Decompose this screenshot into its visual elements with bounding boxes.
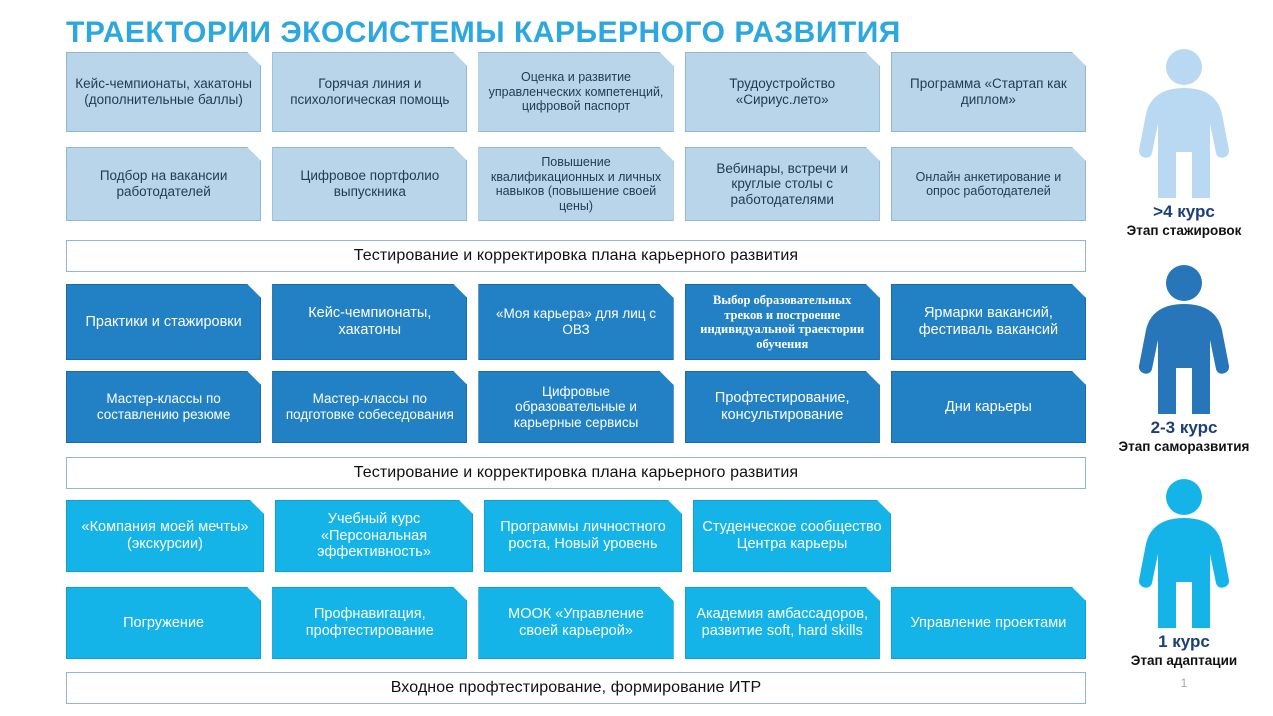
card[interactable]: Дни карьеры — [891, 371, 1086, 443]
card[interactable]: Профтестирование, консультирование — [685, 371, 880, 443]
card[interactable]: Программы личностного роста, Новый урове… — [484, 500, 682, 572]
card[interactable]: Академия амбассадоров, развитие soft, ha… — [685, 587, 880, 659]
card[interactable]: Погружение — [66, 587, 261, 659]
stage-course-label: >4 курс — [1095, 202, 1273, 222]
stage-tier4: >4 курс Этап стажировок — [1095, 48, 1273, 238]
card[interactable]: Цифровые образовательные и карьерные сер… — [478, 371, 673, 443]
stage-tier1: 1 курс Этап адаптации — [1095, 478, 1273, 668]
card-row-tier4-1: Кейс-чемпионаты, хакатоны (дополнительны… — [66, 52, 1086, 132]
page-number: 1 — [1095, 676, 1273, 690]
person-icon — [1132, 478, 1236, 630]
card[interactable]: Цифровое портфолио выпускника — [272, 147, 467, 221]
card[interactable]: Горячая линия и психологическая помощь — [272, 52, 467, 132]
card[interactable]: МООК «Управление своей карьерой» — [478, 587, 673, 659]
stage-tier23: 2-3 курс Этап саморазвития — [1095, 264, 1273, 454]
card[interactable]: Мастер-классы по подготовке собеседовани… — [272, 371, 467, 443]
card[interactable]: Управление проектами — [891, 587, 1086, 659]
card[interactable]: Кейс-чемпионаты, хакатоны — [272, 284, 467, 360]
divider-bar-bottom: Входное профтестирование, формирование И… — [66, 672, 1086, 704]
divider-bar-mid: Тестирование и корректировка плана карье… — [66, 457, 1086, 489]
stage-phase-label: Этап стажировок — [1095, 223, 1273, 238]
card-row-tier23-2: Мастер-классы по составлению резюме Маст… — [66, 371, 1086, 443]
stage-legend: >4 курс Этап стажировок 2-3 курс Этап са… — [1095, 0, 1273, 716]
card[interactable]: Программа «Стартап как диплом» — [891, 52, 1086, 132]
card[interactable]: Ярмарки вакансий, фестиваль вакансий — [891, 284, 1086, 360]
card[interactable]: «Моя карьера» для лиц с ОВЗ — [478, 284, 673, 360]
card[interactable]: Оценка и развитие управленческих компете… — [478, 52, 673, 132]
card[interactable]: Учебный курс «Персональная эффективность… — [275, 500, 473, 572]
person-icon — [1132, 264, 1236, 416]
stage-phase-label: Этап саморазвития — [1095, 439, 1273, 454]
card-row-tier4-2: Подбор на вакансии работодателей Цифрово… — [66, 147, 1086, 221]
diagram-board: Кейс-чемпионаты, хакатоны (дополнительны… — [0, 52, 1095, 716]
stage-phase-label: Этап адаптации — [1095, 653, 1273, 668]
card[interactable]: Подбор на вакансии работодателей — [66, 147, 261, 221]
card[interactable]: «Компания моей мечты» (экскурсии) — [66, 500, 264, 572]
stage-course-label: 2-3 курс — [1095, 418, 1273, 438]
card[interactable]: Мастер-классы по составлению резюме — [66, 371, 261, 443]
card[interactable]: Повышение квалификационных и личных навы… — [478, 147, 673, 221]
card-row-tier1-1: «Компания моей мечты» (экскурсии) Учебны… — [66, 500, 1086, 572]
card[interactable]: Кейс-чемпионаты, хакатоны (дополнительны… — [66, 52, 261, 132]
divider-bar-top: Тестирование и корректировка плана карье… — [66, 240, 1086, 272]
page-title: ТРАЕКТОРИИ ЭКОСИСТЕМЫ КАРЬЕРНОГО РАЗВИТИ… — [66, 16, 901, 50]
card[interactable]: Выбор образовательных треков и построени… — [685, 284, 880, 360]
person-icon — [1132, 48, 1236, 200]
card[interactable]: Трудоустройство «Сириус.лето» — [685, 52, 880, 132]
stage-course-label: 1 курс — [1095, 632, 1273, 652]
card[interactable]: Профнавигация, профтестирование — [272, 587, 467, 659]
card[interactable]: Практики и стажировки — [66, 284, 261, 360]
card[interactable]: Онлайн анкетирование и опрос работодател… — [891, 147, 1086, 221]
card[interactable]: Вебинары, встречи и круглые столы с рабо… — [685, 147, 880, 221]
card-row-tier23-1: Практики и стажировки Кейс-чемпионаты, х… — [66, 284, 1086, 360]
card[interactable]: Студенческое сообщество Центра карьеры — [693, 500, 891, 572]
card-row-tier1-2: Погружение Профнавигация, профтестирован… — [66, 587, 1086, 659]
